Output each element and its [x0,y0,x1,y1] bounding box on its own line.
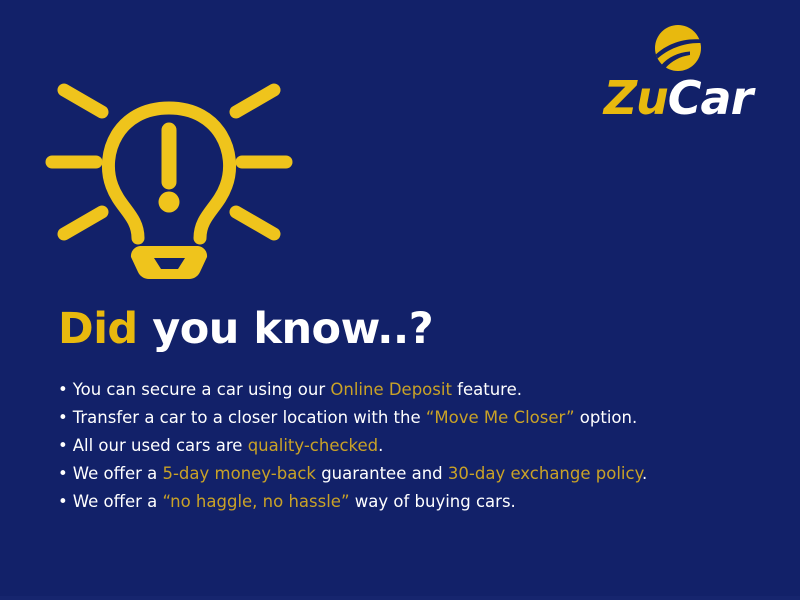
bullet-text: feature. [452,380,522,399]
logo-word-zu: Zu [604,71,668,125]
highlighted-term: quality-checked [248,436,378,455]
list-item: •We offer a “no haggle, no hassle” way o… [58,488,758,516]
zucar-wordmark: ZuCar [588,74,768,122]
slide-canvas: ZuCar Did you know..? •You can secure a … [0,0,800,600]
bullet-text: We offer a [73,492,163,511]
highlighted-term: 30-day exchange policy [448,464,642,483]
exclamation-dot [159,192,180,213]
bullet-marker-icon: • [58,492,68,511]
headline-gold-word: Did [58,304,138,354]
fact-bullet-list: •You can secure a car using our Online D… [58,376,758,516]
highlighted-term: 5-day money-back [162,464,315,483]
bullet-text: way of buying cars. [350,492,516,511]
list-item: •All our used cars are quality-checked. [58,432,758,460]
logo-word-car: Car [668,71,753,125]
list-item: •Transfer a car to a closer location wit… [58,404,758,432]
zucar-logo: ZuCar [588,24,768,128]
bullet-marker-icon: • [58,408,68,427]
bottom-edge-strip [0,596,800,600]
bullet-text: guarantee and [316,464,448,483]
bullet-text: . [642,464,647,483]
ray-upper-left [64,90,102,112]
bullet-marker-icon: • [58,380,68,399]
highlighted-term: Online Deposit [330,380,452,399]
zucar-circle-swoosh-mark [654,24,702,72]
bullet-text: . [378,436,383,455]
bullet-text: Transfer a car to a closer location with… [73,408,426,427]
highlighted-term: “Move Me Closer” [426,408,575,427]
highlighted-term: “no haggle, no hassle” [162,492,349,511]
bullet-marker-icon: • [58,436,68,455]
lightbulb-exclamation-icon [40,66,298,286]
list-item: •You can secure a car using our Online D… [58,376,758,404]
bullet-text: We offer a [73,464,163,483]
ray-upper-right [236,90,274,112]
bullet-marker-icon: • [58,464,68,483]
ray-lower-left [64,212,102,234]
ray-lower-right [236,212,274,234]
headline-white-words: you know..? [138,304,433,354]
bullet-text: option. [575,408,638,427]
bullet-text: You can secure a car using our [73,380,331,399]
list-item: •We offer a 5-day money-back guarantee a… [58,460,758,488]
bullet-text: All our used cars are [73,436,248,455]
page-title: Did you know..? [58,303,433,355]
